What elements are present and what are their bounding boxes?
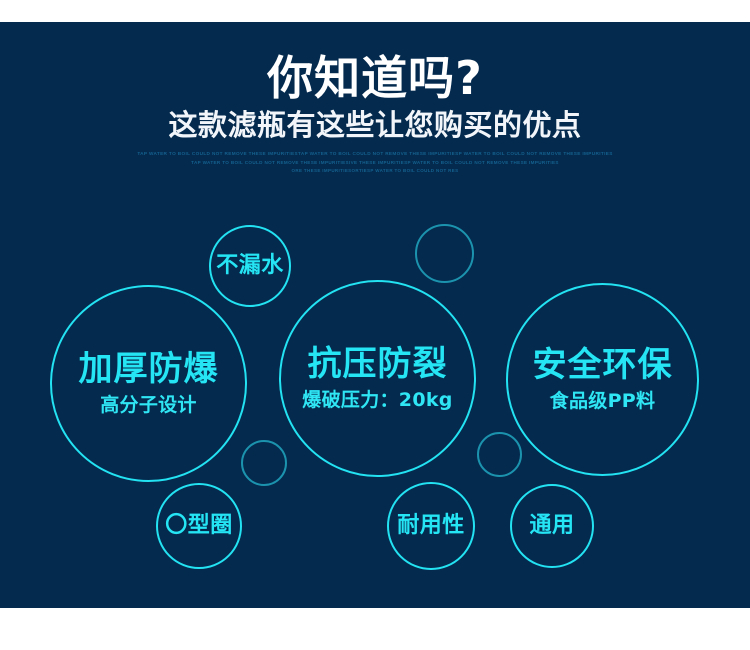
feature-label-leak-proof: 不漏水 <box>216 254 284 278</box>
feature-subheading-pressure-crack-resistant: 爆破压力：20kg <box>302 383 452 411</box>
decorative-circle-top-right <box>415 224 474 283</box>
page-subtitle: 这款滤瓶有这些让您购买的优点 <box>0 103 750 141</box>
header-block: 你知道吗? 这款滤瓶有这些让您购买的优点 TAP WATER TO BOIL C… <box>0 22 750 175</box>
feature-label-universal: 通用 <box>529 514 574 538</box>
microcopy-line-2: TAP WATER TO BOIL COULD NOT REMOVE THESE… <box>0 159 750 167</box>
infographic-canvas: 你知道吗? 这款滤瓶有这些让您购买的优点 TAP WATER TO BOIL C… <box>0 0 750 650</box>
feature-subheading-safe-eco-friendly: 食品级PP料 <box>550 384 656 412</box>
feature-subheading-thickened-explosion-proof: 高分子设计 <box>100 388 197 416</box>
feature-heading-thickened-explosion-proof: 加厚防爆 <box>79 351 219 388</box>
decorative-circle-mid-right <box>477 432 522 477</box>
page-title: 你知道吗? <box>0 22 750 103</box>
feature-heading-pressure-crack-resistant: 抗压防裂 <box>308 346 448 383</box>
microcopy-block: TAP WATER TO BOIL COULD NOT REMOVE THESE… <box>0 141 750 175</box>
microcopy-line-3: ORE THESE IMPURITIESORTIESP WATER TO BOI… <box>0 167 750 175</box>
feature-circle-leak-proof: 不漏水 <box>209 225 291 307</box>
decorative-circle-mid-left <box>241 440 287 486</box>
microcopy-line-1: TAP WATER TO BOIL COULD NOT REMOVE THESE… <box>0 150 750 158</box>
feature-circle-safe-eco-friendly: 安全环保 食品级PP料 <box>506 283 699 476</box>
feature-label-durability: 耐用性 <box>397 514 465 538</box>
feature-circle-universal: 通用 <box>510 484 594 568</box>
feature-label-o-ring: 〇型圈 <box>165 514 233 538</box>
feature-circle-o-ring: 〇型圈 <box>156 483 242 569</box>
feature-circle-durability: 耐用性 <box>387 482 475 570</box>
navy-panel: 你知道吗? 这款滤瓶有这些让您购买的优点 TAP WATER TO BOIL C… <box>0 22 750 608</box>
feature-circle-thickened-explosion-proof: 加厚防爆 高分子设计 <box>50 285 247 482</box>
feature-heading-safe-eco-friendly: 安全环保 <box>533 347 673 384</box>
feature-circle-pressure-crack-resistant: 抗压防裂 爆破压力：20kg <box>279 280 476 477</box>
